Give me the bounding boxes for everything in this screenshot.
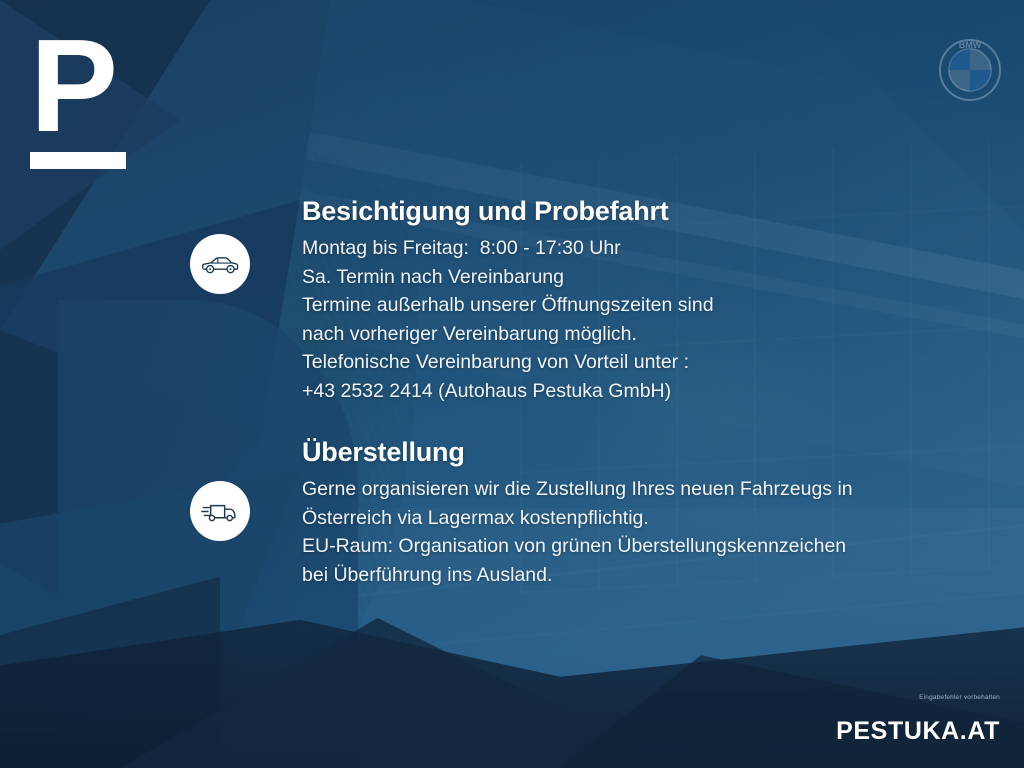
besichtigung-text-column: Besichtigung und Probefahrt Montag bis F… (302, 196, 930, 405)
bmw-roundel-icon: BMW (938, 38, 1002, 102)
pestuka-logo: P (30, 34, 150, 174)
besichtigung-heading: Besichtigung und Probefahrt (302, 196, 930, 227)
slide-canvas: P BMW Besi (0, 0, 1024, 768)
svg-text:BMW: BMW (959, 40, 982, 50)
delivery-truck-icon (190, 481, 250, 541)
section-besichtigung: Besichtigung und Probefahrt Montag bis F… (190, 196, 930, 405)
logo-letter: P (30, 34, 150, 138)
ueberstellung-text-column: Überstellung Gerne organisieren wir die … (302, 437, 950, 589)
ueberstellung-heading: Überstellung (302, 437, 950, 468)
ueberstellung-line-3: EU-Raum: Organisation von grünen Überste… (302, 532, 950, 561)
ueberstellung-line-4: bei Überführung ins Ausland. (302, 561, 950, 590)
besichtigung-line-1: Montag bis Freitag: 8:00 - 17:30 Uhr (302, 234, 930, 263)
besichtigung-line-2: Sa. Termin nach Vereinbarung (302, 263, 930, 292)
section-ueberstellung: Überstellung Gerne organisieren wir die … (190, 437, 950, 589)
ueberstellung-line-2: Österreich via Lagermax kostenpflichtig. (302, 504, 950, 533)
ueberstellung-line-1: Gerne organisieren wir die Zustellung Ih… (302, 475, 950, 504)
car-icon (190, 234, 250, 294)
besichtigung-line-5: Telefonische Vereinbarung von Vorteil un… (302, 348, 930, 377)
brand-wordmark: PESTUKA.AT (836, 717, 1000, 746)
disclaimer-text: Eingabefehler vorbehalten (919, 694, 1000, 701)
besichtigung-line-3: Termine außerhalb unserer Öffnungszeiten… (302, 291, 930, 320)
besichtigung-phone-line: +43 2532 2414 (Autohaus Pestuka GmbH) (302, 377, 930, 406)
besichtigung-line-4: nach vorheriger Vereinbarung möglich. (302, 320, 930, 349)
